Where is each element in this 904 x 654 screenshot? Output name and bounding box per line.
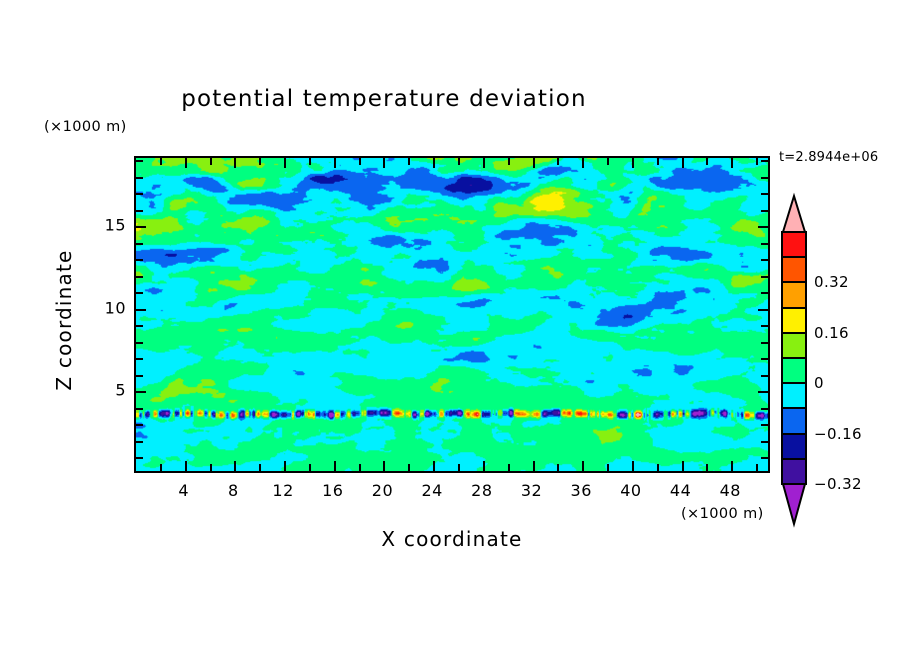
tick-mark (508, 158, 510, 165)
tick-mark (136, 160, 143, 162)
tick-mark (533, 461, 535, 471)
tick-mark (761, 276, 768, 278)
tick-mark (706, 158, 708, 165)
tick-mark (136, 193, 143, 195)
colorbar-band (781, 358, 807, 383)
tick-mark (657, 464, 659, 471)
tick-mark (761, 358, 768, 360)
tick-mark (359, 464, 361, 471)
timestamp-annotation: t=2.8944e+06 (779, 150, 878, 165)
x-tick-label: 24 (421, 481, 442, 500)
tick-mark (761, 375, 768, 377)
tick-mark (136, 325, 143, 327)
tick-mark (682, 461, 684, 471)
y-tick-label: 10 (84, 298, 126, 317)
tick-mark (383, 158, 385, 168)
colorbar-tick-label: 0.32 (814, 273, 849, 291)
x-tick-label: 28 (471, 481, 492, 500)
colorbar-band (781, 459, 807, 484)
tick-mark (761, 210, 768, 212)
tick-mark (185, 461, 187, 471)
tick-mark (761, 259, 768, 261)
tick-mark (136, 441, 143, 443)
tick-mark (136, 375, 143, 377)
page-title: potential temperature deviation (0, 86, 768, 112)
y-tick-label: 5 (84, 381, 126, 400)
x-tick-label: 16 (322, 481, 343, 500)
tick-mark (210, 464, 212, 471)
tick-mark (408, 464, 410, 471)
tick-mark (761, 177, 768, 179)
tick-mark (210, 158, 212, 165)
tick-mark (334, 158, 336, 168)
tick-mark (607, 158, 609, 165)
colorbar-band (781, 383, 807, 408)
colorbar-separator (781, 407, 807, 409)
tick-mark (136, 259, 143, 261)
x-tick-label: 4 (178, 481, 189, 500)
colorbar-band (781, 257, 807, 282)
x-tick-label: 12 (272, 481, 293, 500)
tick-mark (761, 243, 768, 245)
tick-mark (761, 424, 768, 426)
colorbar-separator (781, 256, 807, 258)
colorbar-separator (781, 332, 807, 334)
colorbar-separator (781, 281, 807, 283)
tick-mark (761, 325, 768, 327)
tick-mark (731, 461, 733, 471)
tick-mark (284, 461, 286, 471)
tick-mark (309, 158, 311, 165)
x-axis-unit-label: (×1000 m) (681, 506, 764, 522)
tick-mark (483, 461, 485, 471)
x-tick-label: 48 (720, 481, 741, 500)
x-tick-label: 44 (670, 481, 691, 500)
colorbar-tick-label: −0.32 (814, 475, 862, 493)
tick-mark (136, 292, 143, 294)
colorbar (781, 196, 807, 521)
tick-mark (458, 464, 460, 471)
x-axis-title: X coordinate (134, 527, 770, 551)
tick-mark (632, 461, 634, 471)
tick-mark (136, 226, 146, 228)
tick-mark (483, 158, 485, 168)
tick-mark (557, 158, 559, 165)
tick-mark (582, 461, 584, 471)
tick-mark (234, 158, 236, 168)
tick-mark (136, 408, 143, 410)
tick-mark (160, 464, 162, 471)
colorbar-separator (781, 382, 807, 384)
x-tick-label: 40 (620, 481, 641, 500)
tick-mark (136, 276, 143, 278)
tick-mark (259, 464, 261, 471)
contour-plot-area (134, 156, 770, 473)
colorbar-tick-label: 0.16 (814, 324, 849, 342)
tick-mark (657, 158, 659, 165)
colorbar-separator (781, 307, 807, 309)
colorbar-band (781, 308, 807, 333)
tick-mark (136, 243, 143, 245)
tick-mark (533, 158, 535, 168)
tick-mark (761, 441, 768, 443)
tick-mark (259, 158, 261, 165)
tick-mark (284, 158, 286, 168)
colorbar-band (781, 434, 807, 459)
tick-mark (433, 461, 435, 471)
tick-mark (756, 158, 758, 165)
colorbar-band (781, 408, 807, 433)
tick-mark (761, 408, 768, 410)
colorbar-separator (781, 231, 807, 233)
colorbar-tick-label: −0.16 (814, 425, 862, 443)
tick-mark (607, 464, 609, 471)
tick-mark (557, 464, 559, 471)
tick-mark (761, 292, 768, 294)
x-tick-label: 36 (571, 481, 592, 500)
tick-mark (334, 461, 336, 471)
tick-mark (582, 158, 584, 168)
tick-mark (761, 342, 768, 344)
colorbar-separator (781, 483, 807, 485)
tick-mark (234, 461, 236, 471)
tick-mark (758, 391, 768, 393)
tick-mark (136, 457, 143, 459)
colorbar-tick-label: 0 (814, 374, 824, 392)
tick-mark (359, 158, 361, 165)
x-tick-label: 20 (372, 481, 393, 500)
colorbar-band (781, 232, 807, 257)
tick-mark (731, 158, 733, 168)
tick-mark (433, 158, 435, 168)
colorbar-separator (781, 458, 807, 460)
tick-mark (758, 226, 768, 228)
tick-mark (136, 342, 143, 344)
tick-mark (682, 158, 684, 168)
tick-mark (185, 158, 187, 168)
x-tick-label: 32 (521, 481, 542, 500)
tick-mark (136, 358, 143, 360)
colorbar-band (781, 333, 807, 358)
y-axis-unit-label: (×1000 m) (44, 119, 127, 135)
tick-mark (408, 158, 410, 165)
tick-mark (383, 461, 385, 471)
tick-mark (758, 309, 768, 311)
tick-mark (136, 309, 146, 311)
tick-mark (508, 464, 510, 471)
x-tick-label: 8 (228, 481, 239, 500)
y-tick-label: 15 (84, 216, 126, 235)
tick-mark (706, 464, 708, 471)
tick-mark (136, 391, 146, 393)
tick-mark (632, 158, 634, 168)
tick-mark (458, 158, 460, 165)
tick-mark (160, 158, 162, 165)
tick-mark (136, 424, 143, 426)
y-axis-title: Z coordinate (52, 210, 76, 430)
colorbar-band (781, 282, 807, 307)
tick-mark (761, 160, 768, 162)
tick-mark (136, 210, 143, 212)
tick-mark (761, 193, 768, 195)
contour-field-canvas (136, 158, 768, 471)
colorbar-separator (781, 433, 807, 435)
tick-mark (309, 464, 311, 471)
colorbar-separator (781, 357, 807, 359)
tick-mark (761, 457, 768, 459)
tick-mark (756, 464, 758, 471)
tick-mark (136, 177, 143, 179)
